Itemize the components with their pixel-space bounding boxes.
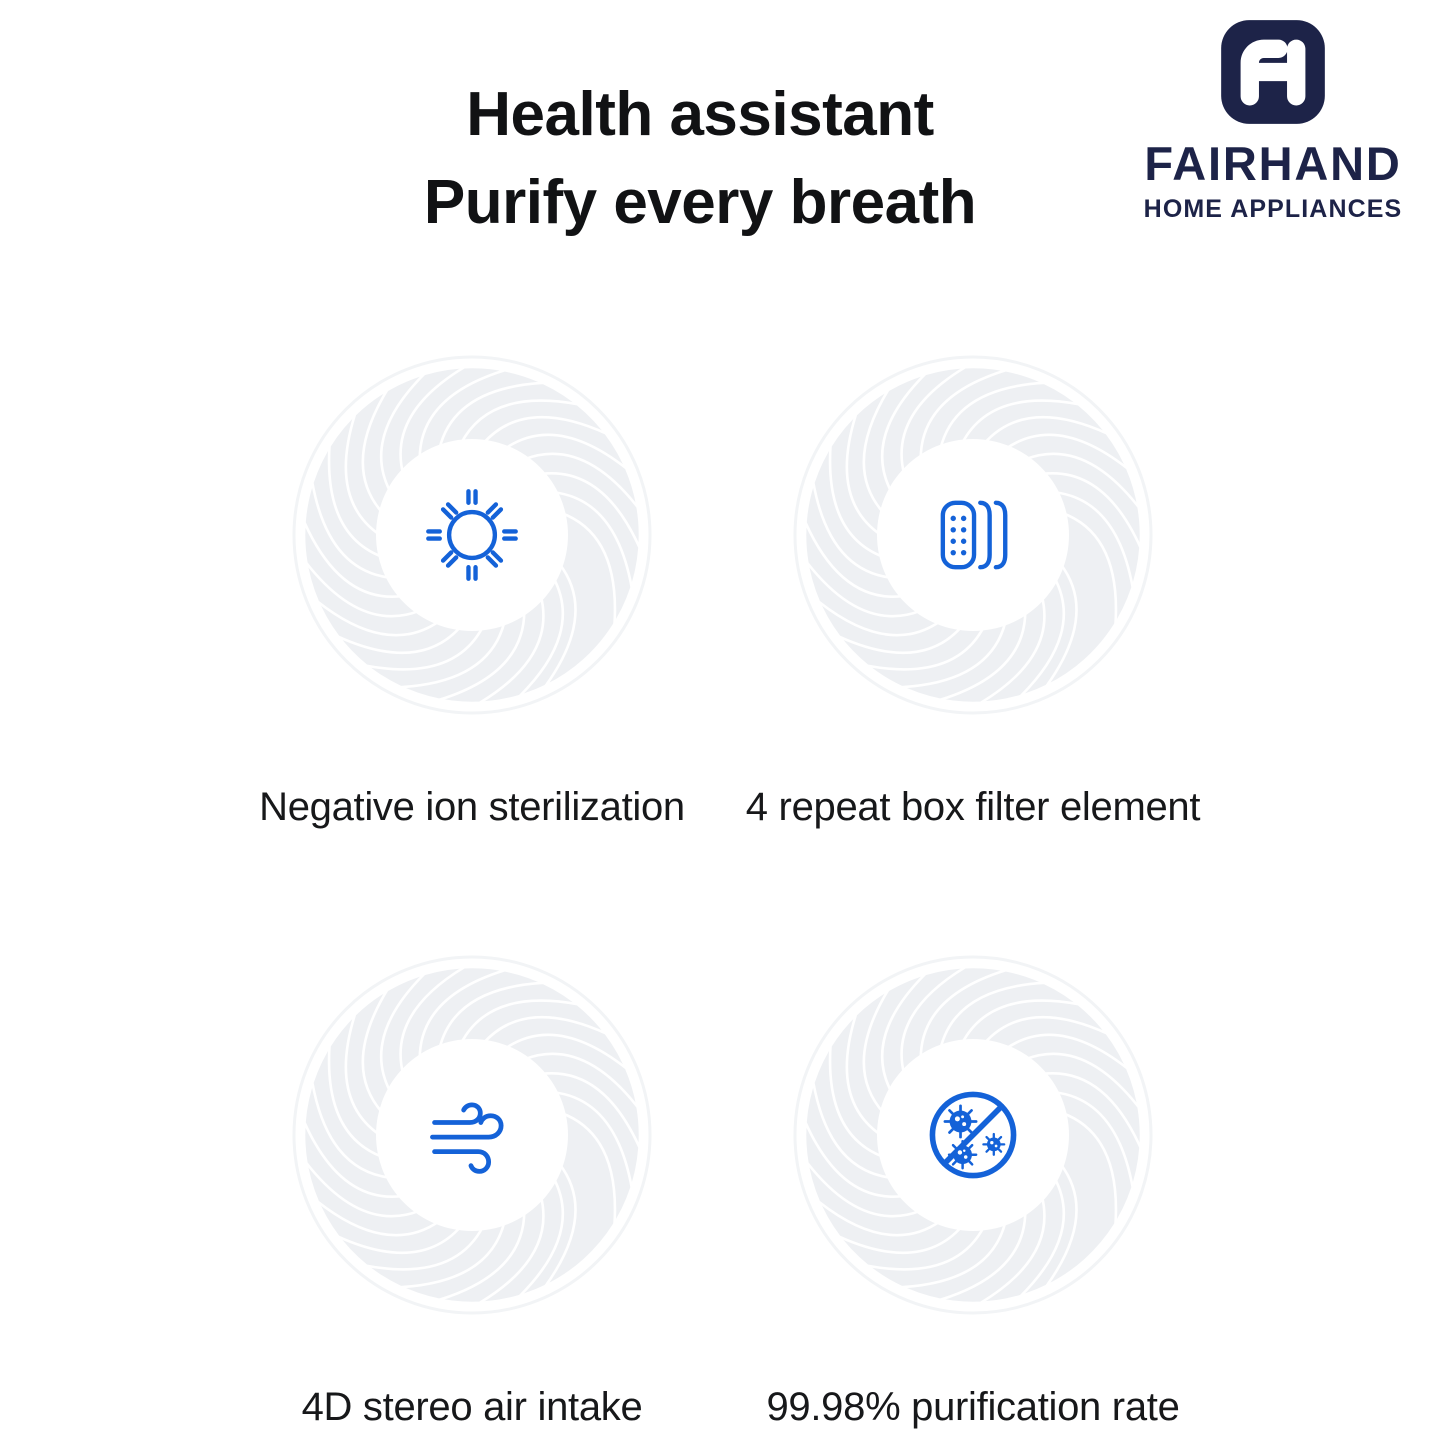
feature-label: 99.98% purification rate (723, 1385, 1223, 1430)
feature-card-filter: 4 repeat box filter element (723, 355, 1223, 875)
feature-card-negative-ion: Negative ion sterilization (222, 355, 722, 875)
fan-graphic-wrapper (292, 955, 652, 1315)
feature-label: Negative ion sterilization (222, 785, 722, 830)
headline-line-2: Purify every breath (330, 160, 1070, 246)
no-germs-icon (921, 1083, 1025, 1187)
product-feature-page: Health assistant Purify every breath FAI… (0, 0, 1445, 1445)
fan-graphic-wrapper (793, 355, 1153, 715)
page-title: Health assistant Purify every breath (330, 72, 1070, 245)
feature-grid: Negative ion sterilization 4 repeat box … (0, 355, 1445, 1445)
sun-rays-icon (420, 483, 524, 587)
brand-logo: FAIRHAND HOME APPLIANCES (1123, 18, 1423, 222)
fh-monogram-icon (1219, 18, 1327, 126)
page-header: Health assistant Purify every breath FAI… (0, 0, 1445, 270)
logo-tagline: HOME APPLIANCES (1123, 197, 1423, 222)
logo-wordmark: FAIRHAND (1123, 140, 1423, 187)
feature-card-air-intake: 4D stereo air intake (222, 955, 722, 1445)
feature-label: 4D stereo air intake (222, 1385, 722, 1430)
filter-cartridge-icon (921, 483, 1025, 587)
feature-label: 4 repeat box filter element (723, 785, 1223, 830)
fan-graphic-wrapper (793, 955, 1153, 1315)
fan-graphic-wrapper (292, 355, 652, 715)
wind-airflow-icon (420, 1083, 524, 1187)
headline-line-1: Health assistant (330, 72, 1070, 158)
feature-card-purification: 99.98% purification rate (723, 955, 1223, 1445)
